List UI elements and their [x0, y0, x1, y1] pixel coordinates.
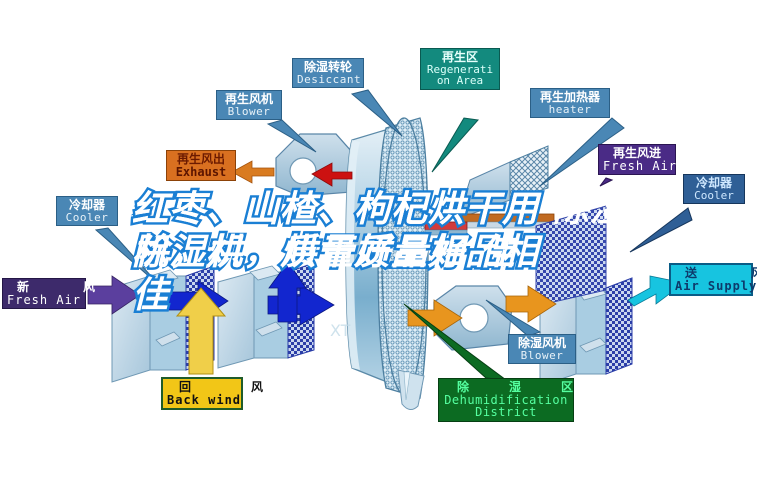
headline-line-3-stroke: 佳 [132, 274, 642, 317]
label-regeneration-fresh-air-cn: 再生风进 [603, 147, 671, 160]
label-back-wind-cn: 回 风 [167, 381, 237, 394]
label-regeneration-area-en2: on Area [425, 75, 495, 87]
label-regeneration-blower-en: Blower [221, 106, 277, 118]
label-dehumidification-blower-en: Blower [513, 350, 571, 362]
label-cooler-right-en: Cooler [688, 190, 740, 202]
exhaust-arrow [232, 161, 274, 183]
label-regeneration-heater-cn: 再生加热器 [535, 91, 605, 104]
label-air-supply[interactable]: 送 风 Air Supply [669, 263, 753, 296]
regeneration-blower-unit [276, 134, 352, 196]
label-fresh-air-intake[interactable]: 新 风 Fresh Air [2, 278, 86, 309]
label-air-supply-en: Air Supply [675, 280, 747, 293]
headline-line-2-stroke: 除湿机，烘干质量好品相 [132, 231, 642, 274]
headline-overlay-stroke: 红枣、山楂、枸杞烘干用 除湿机，烘干质量好品相 佳 [132, 188, 642, 317]
label-cooler-left-en: Cooler [61, 212, 113, 224]
label-regeneration-blower[interactable]: 再生风机 Blower [216, 90, 282, 120]
label-dehumidification-district[interactable]: 除 湿 区 Dehumidification District [438, 378, 574, 422]
label-desiccant-wheel-en: Desiccant [297, 74, 359, 86]
label-fresh-air-intake-cn: 新 风 [7, 281, 81, 294]
label-regeneration-fresh-air-en: Fresh Air [603, 160, 671, 173]
label-back-wind-en: Back wind [167, 394, 237, 407]
label-regeneration-area[interactable]: 再生区 Regenerati on Area [420, 48, 500, 90]
label-regeneration-heater-en: heater [535, 104, 605, 116]
label-dehumidification-district-cn: 除 湿 区 [443, 381, 569, 394]
label-cooler-right[interactable]: 冷却器 Cooler [683, 174, 745, 204]
label-desiccant-wheel-cn: 除湿转轮 [297, 61, 359, 74]
label-cooler-left-cn: 冷却器 [61, 199, 113, 212]
diagram-canvas: XT [0, 0, 757, 488]
wheel-drain-trough [398, 370, 424, 410]
headline-line-1-stroke: 红枣、山楂、枸杞烘干用 [132, 188, 642, 231]
label-air-supply-cn: 送 风 [675, 267, 747, 280]
label-fresh-air-intake-en: Fresh Air [7, 294, 81, 307]
label-exhaust-en: Exhaust [171, 166, 231, 179]
label-regeneration-blower-cn: 再生风机 [221, 93, 277, 106]
label-cooler-left[interactable]: 冷却器 Cooler [56, 196, 118, 226]
label-back-wind[interactable]: 回 风 Back wind [161, 377, 243, 410]
label-desiccant-wheel[interactable]: 除湿转轮 Desiccant [292, 58, 364, 88]
label-cooler-right-cn: 冷却器 [688, 177, 740, 190]
watermark-text: XT [330, 321, 351, 340]
label-exhaust-cn: 再生风出 [171, 153, 231, 166]
label-dehumidification-blower-cn: 除湿风机 [513, 337, 571, 350]
label-regeneration-area-cn: 再生区 [425, 51, 495, 64]
label-dehumidification-blower[interactable]: 除湿风机 Blower [508, 334, 576, 364]
label-regeneration-fresh-air[interactable]: 再生风进 Fresh Air [598, 144, 676, 175]
label-dehumidification-district-en2: District [443, 406, 569, 419]
label-regeneration-heater[interactable]: 再生加热器 heater [530, 88, 610, 118]
label-exhaust[interactable]: 再生风出 Exhaust [166, 150, 236, 181]
